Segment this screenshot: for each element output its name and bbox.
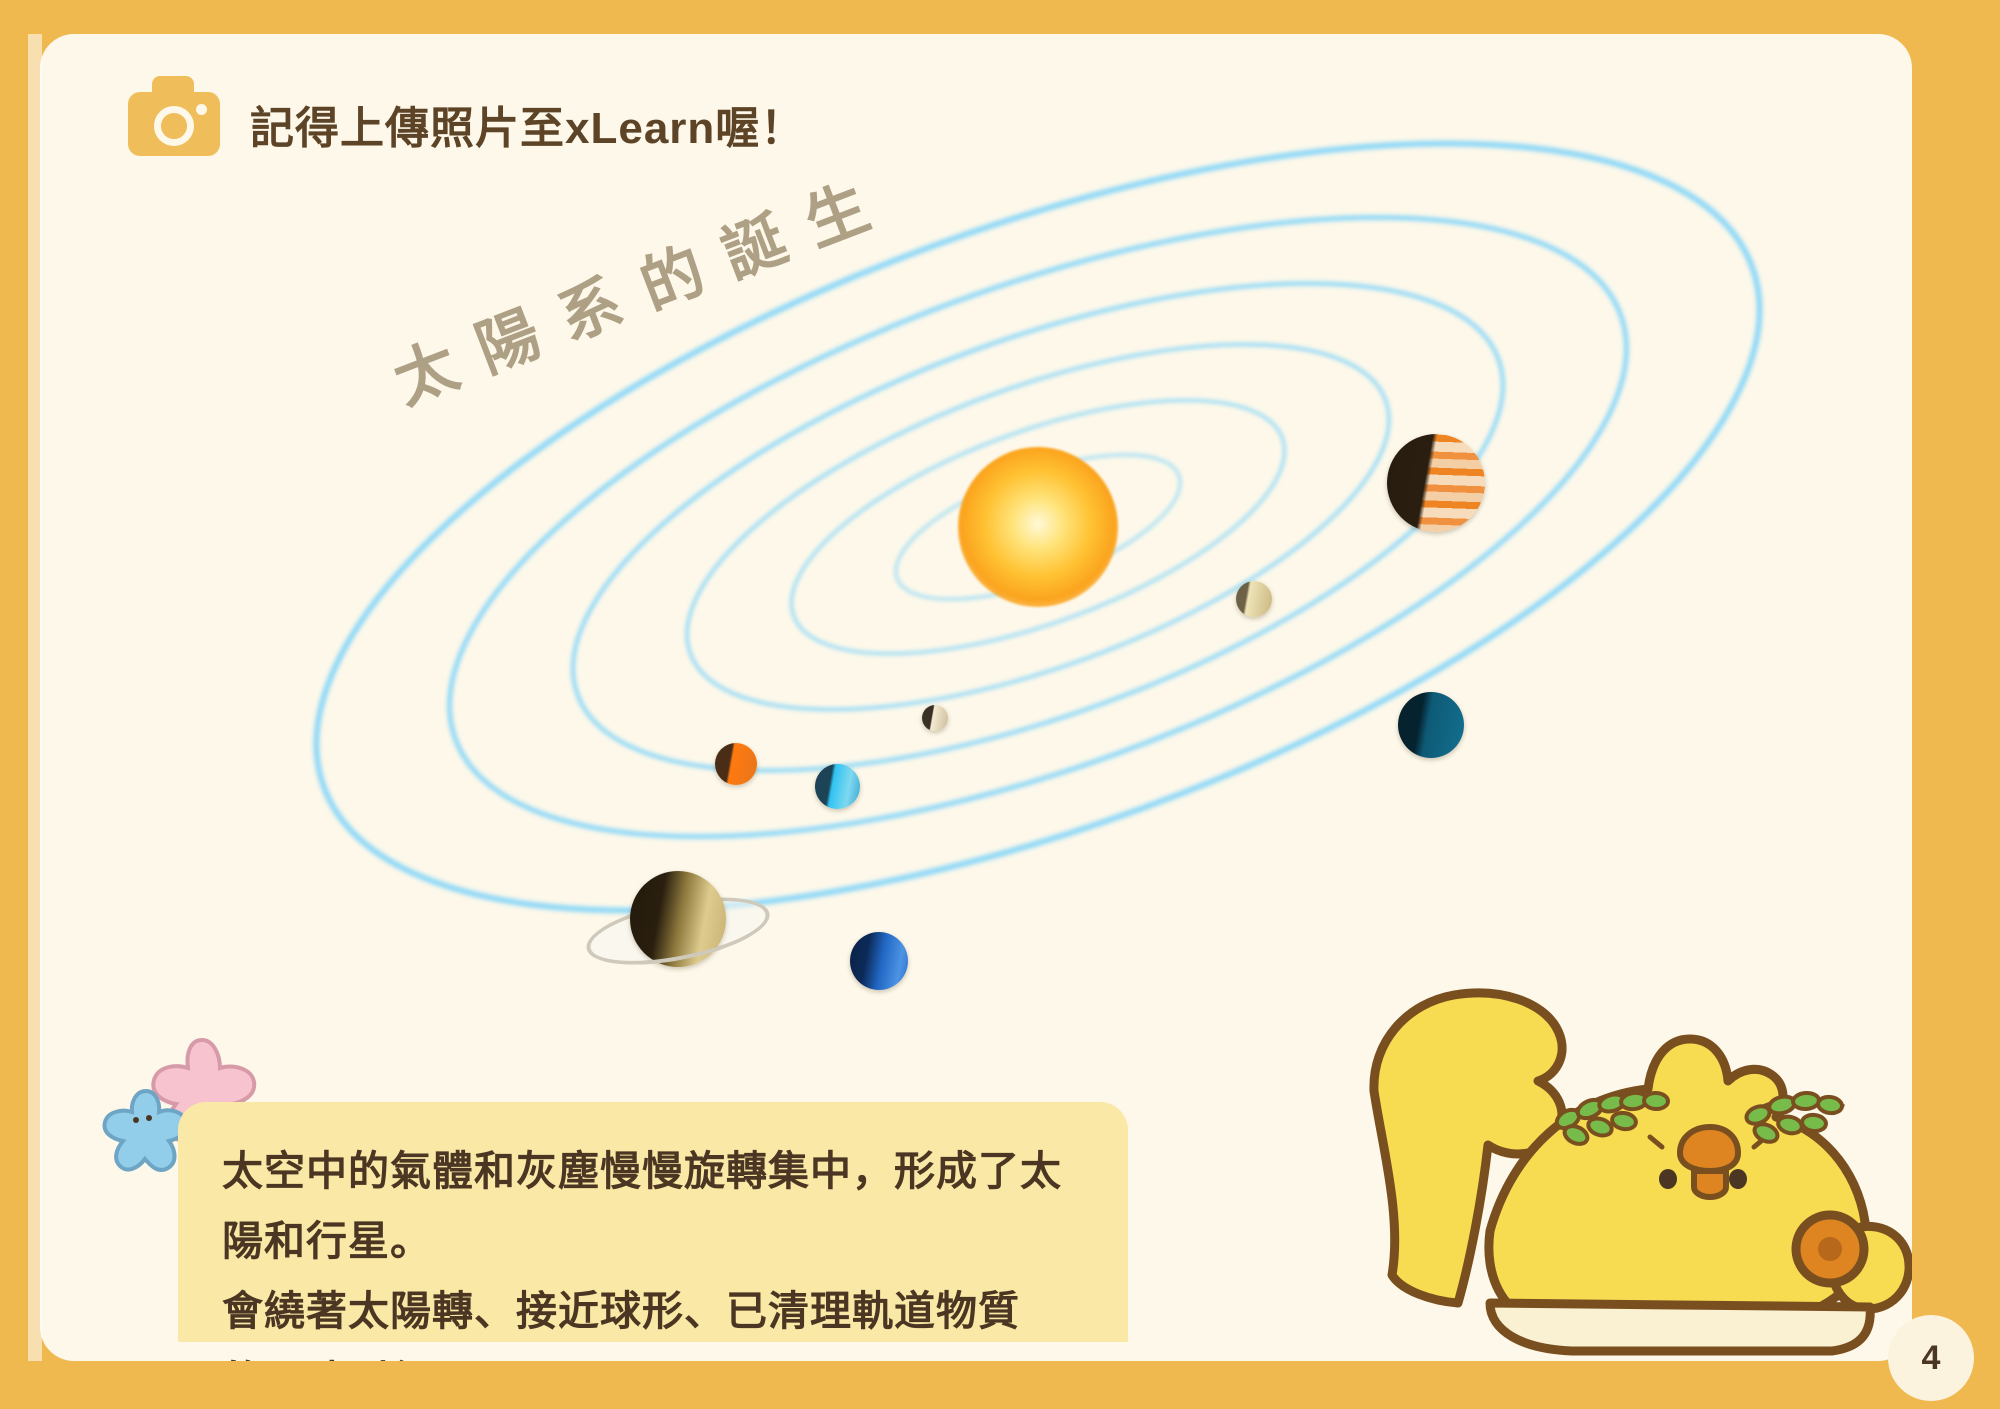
page-title: 太陽系的誕生: [379, 148, 904, 421]
planet-uranus: [850, 932, 908, 990]
header-instruction-text: 記得上傳照片至xLearn喔！: [250, 92, 805, 156]
page-paper: 記得上傳照片至xLearn喔！ 太陽系的誕生: [40, 34, 1912, 1361]
caption-line-1: 太空中的氣體和灰塵慢慢旋轉集中，形成了太陽和行星。: [222, 1136, 1084, 1276]
yellow-bear-mascot: [1362, 931, 1912, 1361]
planet-neptune: [1398, 692, 1464, 758]
planet-venus: [1236, 581, 1272, 617]
page-number: 4: [1888, 1315, 1974, 1401]
camera-flash-icon: [196, 104, 207, 115]
left-border-strip: [0, 0, 40, 1409]
header: 記得上傳照片至xLearn喔！: [128, 92, 805, 156]
planet-jupiter: [1387, 434, 1485, 532]
caption-line-2: 會繞著太陽轉、接近球形、已清理軌道物質的，才叫行: [222, 1276, 1084, 1361]
page-root: 記得上傳照片至xLearn喔！ 太陽系的誕生: [0, 0, 2000, 1409]
caption-bubble: 太空中的氣體和灰塵慢慢旋轉集中，形成了太陽和行星。 會繞著太陽轉、接近球形、已清…: [178, 1102, 1128, 1342]
camera-lens-icon: [154, 106, 194, 146]
camera-icon: [128, 92, 220, 156]
planet-mars: [715, 743, 757, 785]
sun: [958, 447, 1118, 607]
planet-mercury: [922, 705, 948, 731]
planet-earth: [815, 764, 860, 809]
